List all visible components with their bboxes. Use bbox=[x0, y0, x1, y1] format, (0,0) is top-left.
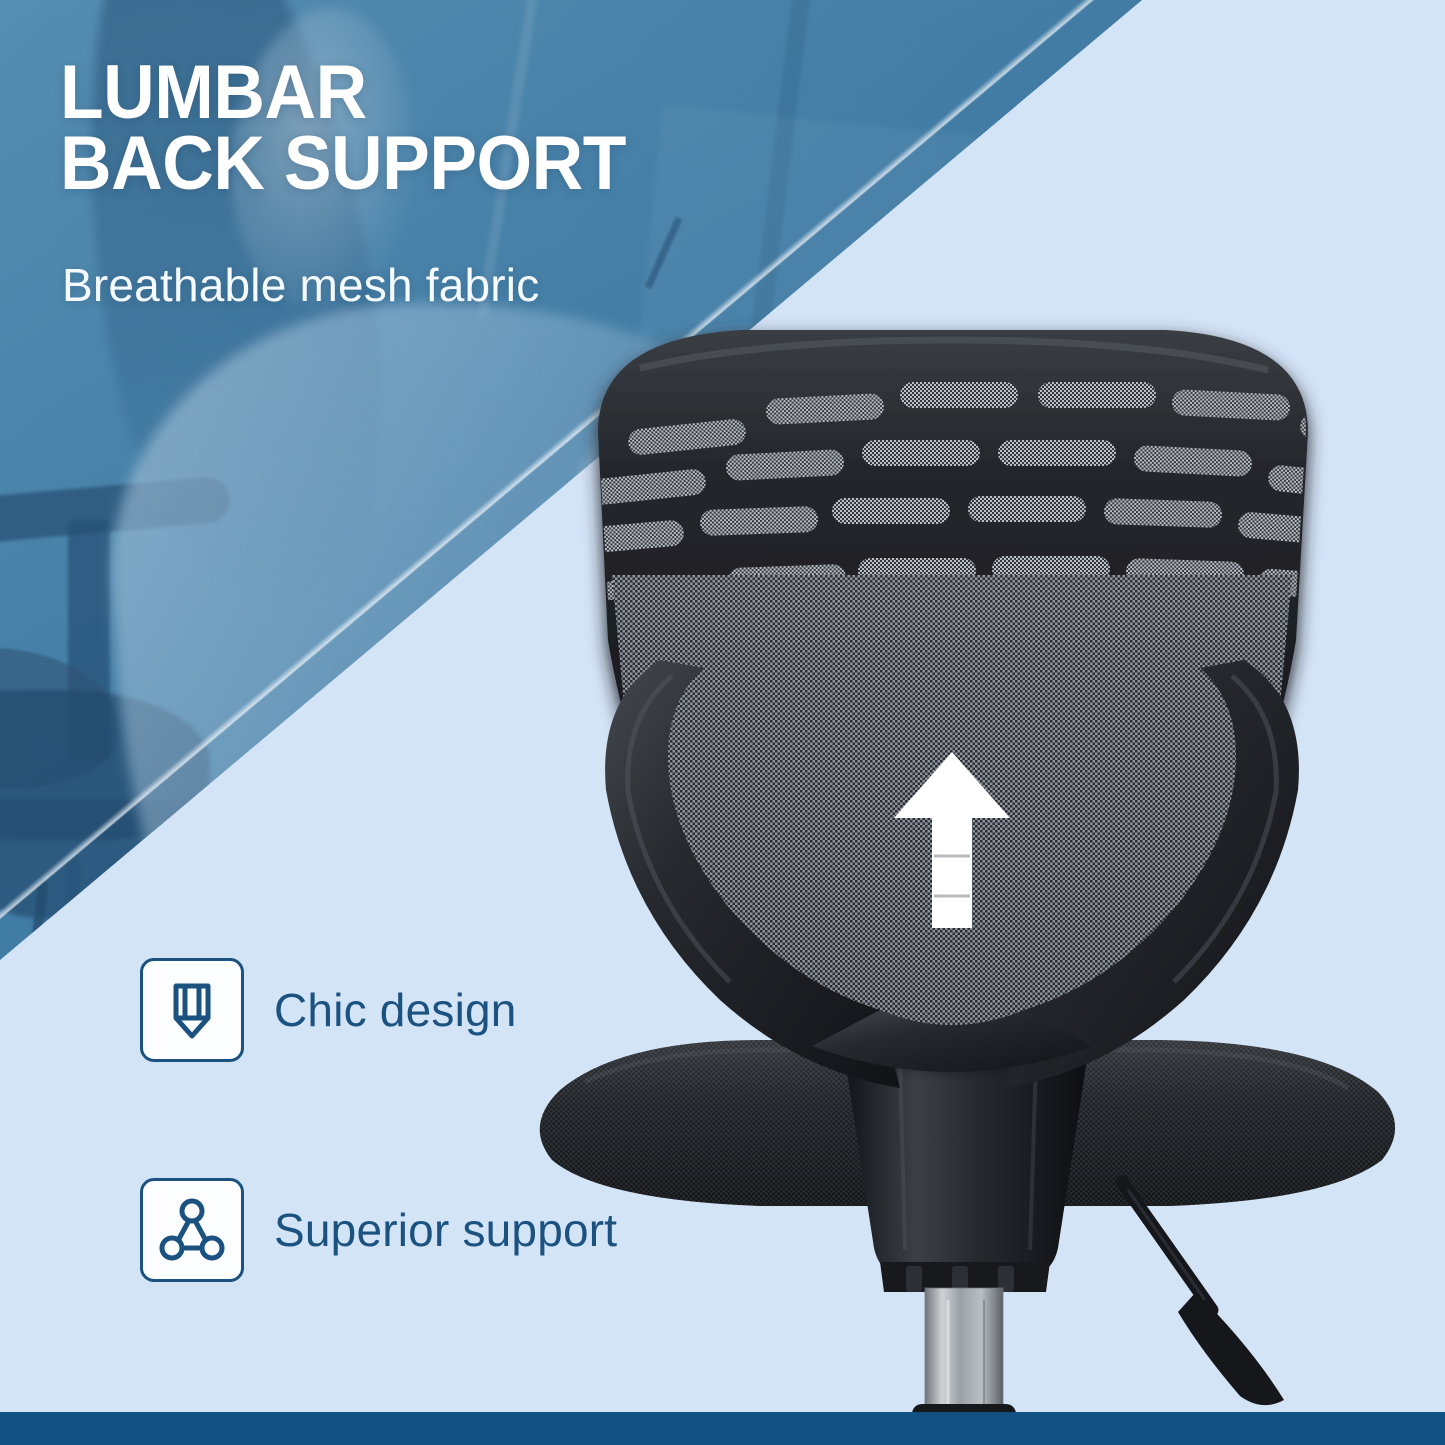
pencil-icon bbox=[140, 958, 244, 1062]
photo-person-leg bbox=[672, 511, 1138, 809]
product-infographic: LUMBAR BACK SUPPORT Breathable mesh fabr… bbox=[0, 0, 1445, 1445]
photo-person-hand bbox=[889, 202, 1051, 358]
photo-chair-lever bbox=[25, 880, 48, 990]
page-subtitle: Breathable mesh fabric bbox=[62, 258, 539, 312]
photo-whiteboard bbox=[618, 104, 991, 566]
backrest-top-highlight bbox=[640, 340, 1268, 370]
photo-person-arm bbox=[548, 253, 1031, 558]
photo-wall-edge bbox=[721, 0, 817, 579]
feature-label: Chic design bbox=[274, 983, 517, 1037]
feature-label: Superior support bbox=[274, 1203, 617, 1257]
backrest-ventilation-slots bbox=[573, 382, 1411, 704]
photo-chair-armrest-post bbox=[68, 520, 110, 760]
page-title: LUMBAR BACK SUPPORT bbox=[60, 58, 626, 199]
photo-chair-armrest bbox=[0, 475, 231, 544]
lumbar-support-arms bbox=[605, 660, 1299, 1088]
photo-chair-cylinder bbox=[66, 860, 80, 1000]
photo-chair-mesh-back bbox=[0, 648, 120, 788]
lumbar-frame bbox=[598, 330, 1308, 1058]
feature-item-chic-design: Chic design bbox=[140, 958, 517, 1062]
direction-up-arrow-icon bbox=[894, 752, 1010, 928]
breathable-mesh-panel bbox=[600, 560, 1320, 1080]
height-adjustment-lever bbox=[1122, 1182, 1284, 1405]
chair-column bbox=[842, 1040, 1090, 1292]
chair-seat bbox=[540, 1040, 1395, 1206]
footer-accent-bar bbox=[0, 1412, 1445, 1445]
triangle-network-icon bbox=[140, 1178, 244, 1282]
feature-item-superior-support: Superior support bbox=[140, 1178, 617, 1282]
photo-chair-base bbox=[0, 800, 240, 920]
photo-person-body bbox=[94, 277, 847, 1000]
photo-person-pen bbox=[645, 217, 682, 289]
